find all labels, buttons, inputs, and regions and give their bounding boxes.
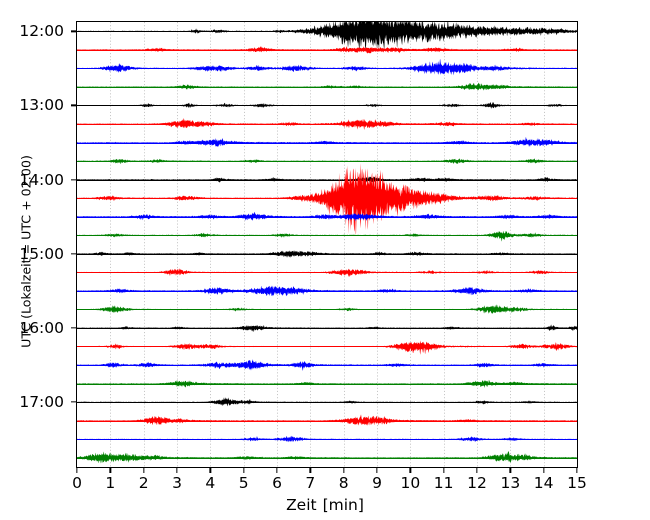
- x-tick-label-10: 10: [400, 474, 420, 492]
- x-axis-title: Zeit[min]: [0, 496, 650, 514]
- x-axis-tick-group: Zeit[min] 0123456789101112131415: [0, 468, 650, 520]
- seismic-traces-canvas: [77, 22, 577, 467]
- x-tick-mark: [376, 468, 377, 473]
- x-tick-mark: [243, 468, 244, 473]
- y-tick-label-1300: 13:00: [19, 96, 64, 114]
- x-tick-label-8: 8: [339, 474, 349, 492]
- x-tick-mark: [76, 468, 77, 473]
- x-tick-label-1: 1: [105, 474, 115, 492]
- x-tick-mark: [276, 468, 277, 473]
- x-axis-title-text: Zeit: [286, 496, 317, 514]
- x-tick-mark: [476, 468, 477, 473]
- x-tick-mark: [543, 468, 544, 473]
- y-axis-title: UTC (Lokalzeit = UTC + 02:00): [19, 127, 34, 377]
- x-tick-label-15: 15: [567, 474, 587, 492]
- x-tick-mark: [343, 468, 344, 473]
- x-tick-label-7: 7: [305, 474, 315, 492]
- x-tick-label-11: 11: [434, 474, 454, 492]
- y-tick-label-1700: 17:00: [19, 393, 64, 411]
- x-axis-title-unit: [min]: [323, 496, 364, 514]
- y-tick-label-1200: 12:00: [19, 22, 64, 40]
- plot-area: [76, 21, 578, 468]
- x-tick-mark: [510, 468, 511, 473]
- x-tick-label-6: 6: [272, 474, 282, 492]
- x-tick-label-3: 3: [172, 474, 182, 492]
- x-tick-mark: [210, 468, 211, 473]
- x-tick-label-13: 13: [500, 474, 520, 492]
- y-axis-tick-group: 12:0013:0014:0015:0016:0017:00: [0, 0, 76, 520]
- x-tick-label-9: 9: [372, 474, 382, 492]
- x-tick-mark: [143, 468, 144, 473]
- x-tick-mark: [443, 468, 444, 473]
- seismogram-figure: 12:0013:0014:0015:0016:0017:00 UTC (Loka…: [0, 0, 650, 520]
- x-tick-mark: [110, 468, 111, 473]
- x-tick-label-4: 4: [205, 474, 215, 492]
- x-tick-label-2: 2: [139, 474, 149, 492]
- x-tick-mark: [176, 468, 177, 473]
- x-tick-label-12: 12: [467, 474, 487, 492]
- x-tick-mark: [576, 468, 577, 473]
- x-tick-label-5: 5: [239, 474, 249, 492]
- x-tick-mark: [410, 468, 411, 473]
- x-tick-mark: [310, 468, 311, 473]
- x-tick-label-14: 14: [534, 474, 554, 492]
- x-tick-label-0: 0: [72, 474, 82, 492]
